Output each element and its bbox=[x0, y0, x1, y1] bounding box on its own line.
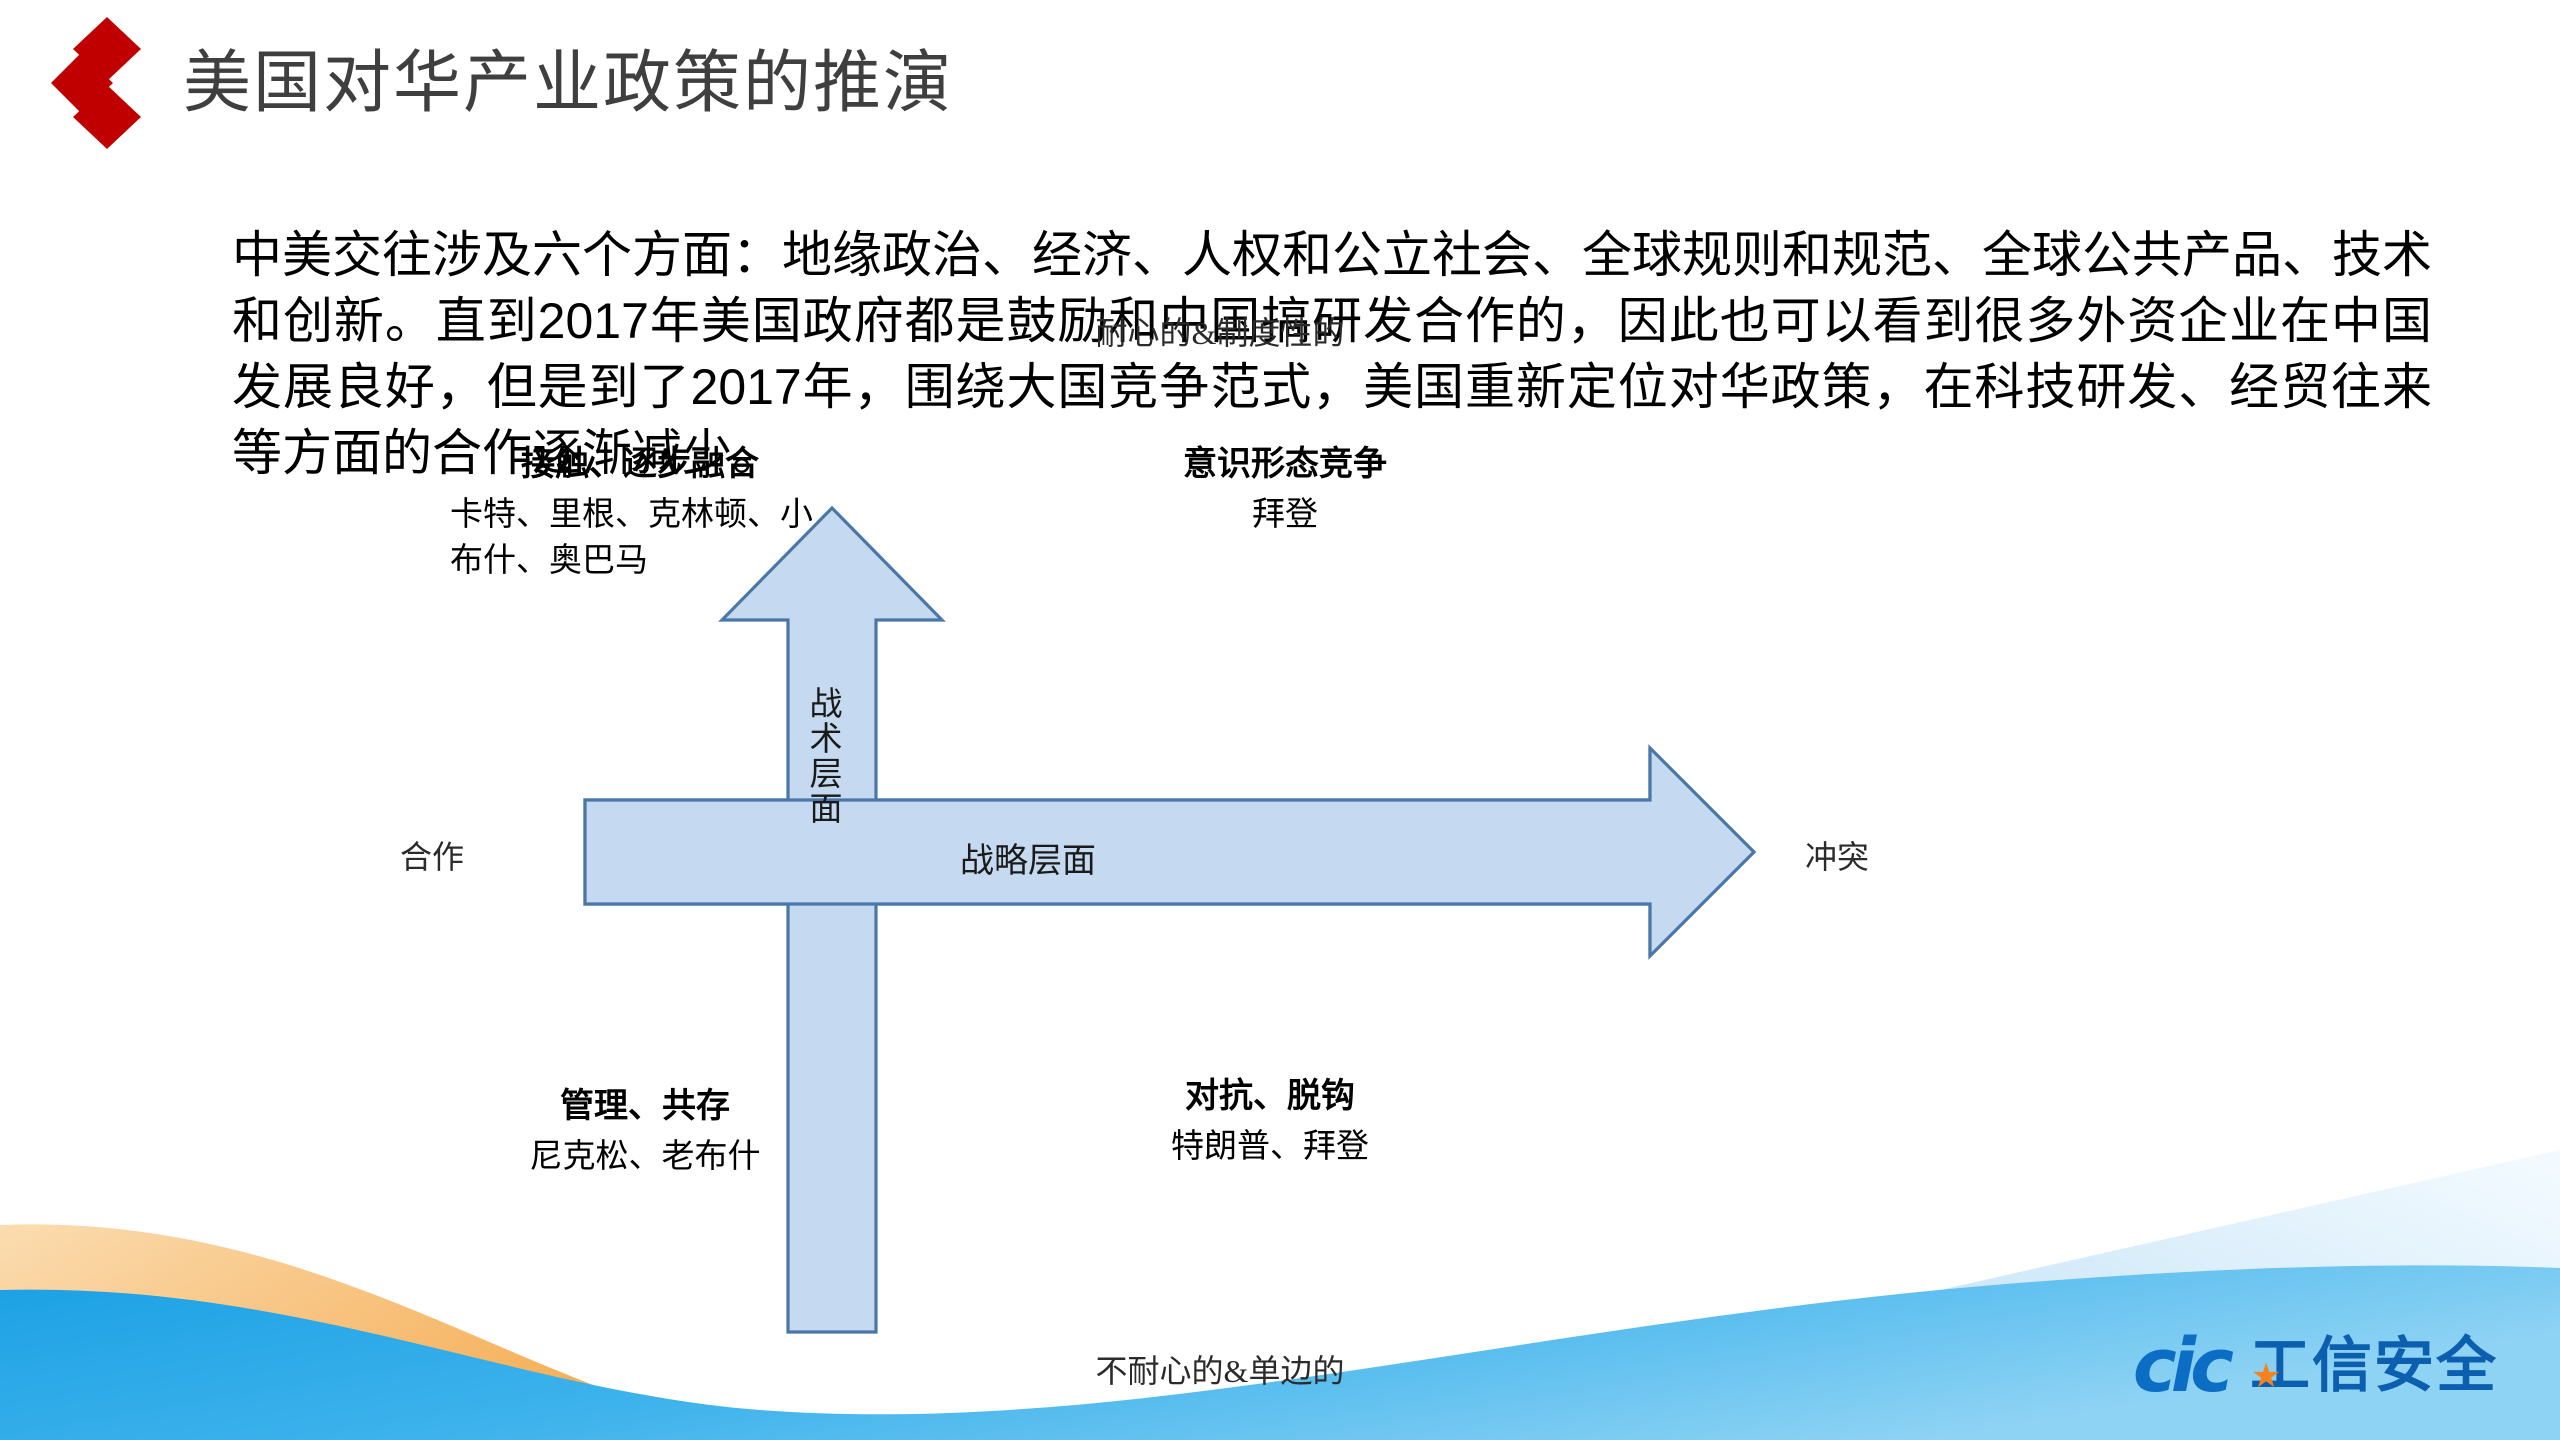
diagram-arrows bbox=[560, 500, 2000, 1360]
quadrant-bottom-left-title: 管理、共存 bbox=[480, 1078, 810, 1127]
quadrant-top-right-subtitle: 拜登 bbox=[1120, 491, 1450, 537]
slide-canvas: 美国对华产业政策的推演 中美交往涉及六个方面：地缘政治、经济、人权和公立社会、全… bbox=[0, 0, 2560, 1440]
quadrant-bottom-left: 管理、共存 尼克松、老布什 bbox=[480, 1078, 810, 1179]
horizontal-arrow-shape bbox=[585, 748, 1754, 956]
quadrant-top-left-title: 接触、逐步融合 bbox=[450, 436, 830, 485]
axis-label-bottom: 不耐心的&单边的 bbox=[1000, 1346, 1440, 1392]
quadrant-top-right-title: 意识形态竞争 bbox=[1120, 436, 1450, 485]
quadrant-bottom-right-subtitle: 特朗普、拜登 bbox=[1105, 1123, 1435, 1169]
quadrant-bottom-right-title: 对抗、脱钩 bbox=[1105, 1068, 1435, 1117]
axis-label-right: 冲突 bbox=[1805, 832, 1869, 878]
axis-label-top: 耐心的&制度性的 bbox=[1000, 308, 1440, 354]
quadrant-top-right: 意识形态竞争 拜登 bbox=[1120, 436, 1450, 537]
quadrant-bottom-left-subtitle: 尼克松、老布什 bbox=[480, 1133, 810, 1179]
quadrant-top-left-subtitle: 卡特、里根、克林顿、小布什、奥巴马 bbox=[450, 491, 830, 583]
vertical-axis-name: 战术层面 bbox=[798, 686, 846, 826]
horizontal-axis-name: 战略层面 bbox=[960, 833, 1096, 882]
axis-label-left: 合作 bbox=[400, 832, 464, 878]
page-title: 美国对华产业政策的推演 bbox=[183, 46, 953, 121]
orange-star-icon: ★ bbox=[2251, 1359, 2275, 1393]
vertical-arrow-shape bbox=[722, 508, 942, 1332]
logo-company-name: 工信安全 bbox=[2250, 1336, 2498, 1396]
quadrant-diagram: 耐心的&制度性的 不耐心的&单边的 合作 冲突 战术层面 战略层面 接触、逐步融… bbox=[560, 500, 2000, 1360]
quadrant-bottom-right: 对抗、脱钩 特朗普、拜登 bbox=[1105, 1068, 1435, 1169]
logo-mark: cic ★ bbox=[2133, 1329, 2228, 1403]
slide-header: 美国对华产业政策的推演 bbox=[0, 8, 2000, 158]
brand-logo: cic ★ 工信安全 bbox=[2133, 1320, 2498, 1412]
quadrant-top-left: 接触、逐步融合 卡特、里根、克林顿、小布什、奥巴马 bbox=[450, 436, 830, 583]
red-diamond-icon bbox=[45, 13, 165, 153]
logo-mark-text: cic bbox=[2133, 1323, 2228, 1409]
